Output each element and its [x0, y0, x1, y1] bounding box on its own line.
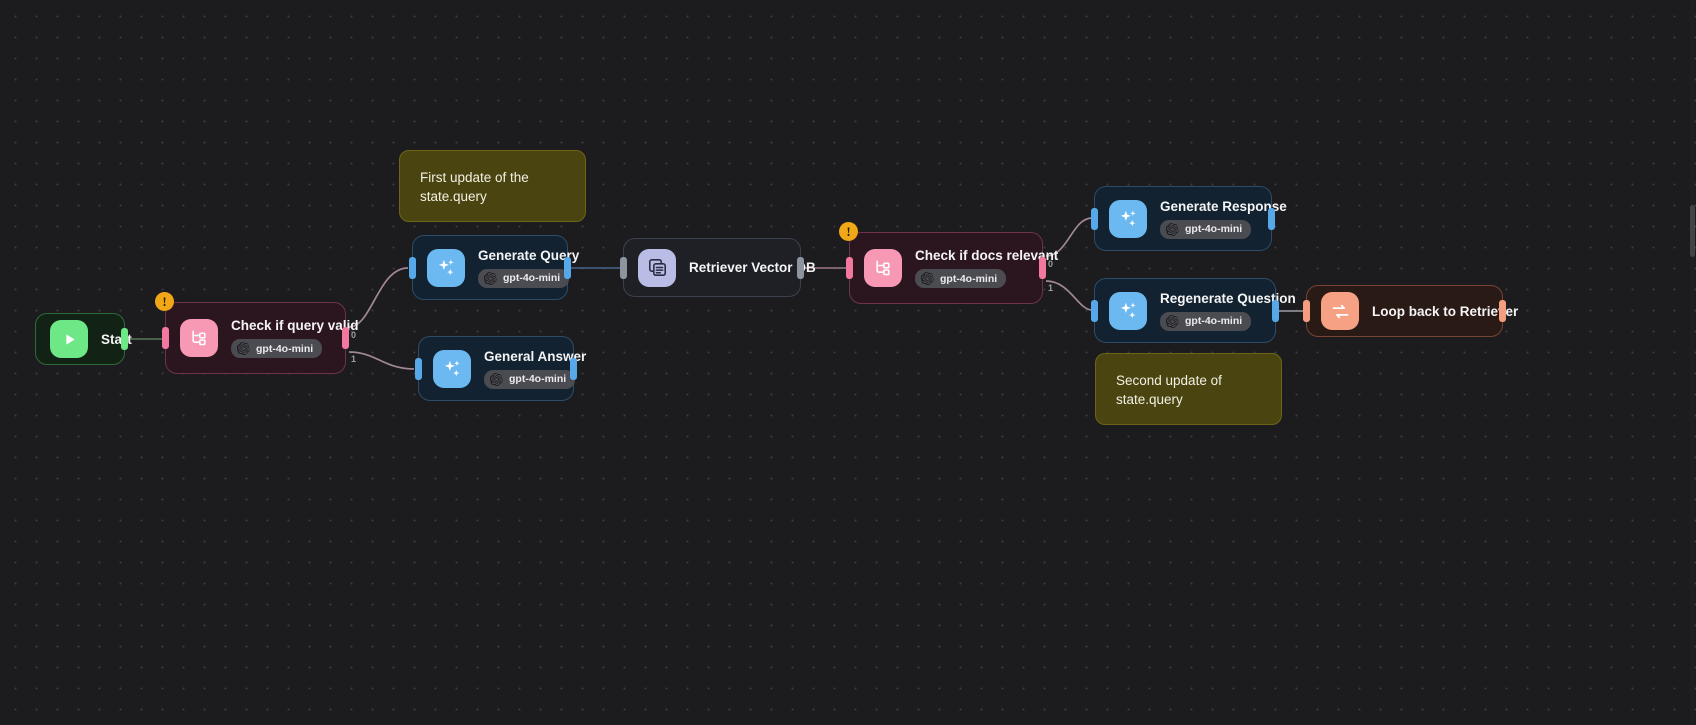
- output-handle[interactable]: [570, 358, 577, 380]
- model-name-label: gpt-4o-mini: [1185, 315, 1242, 327]
- input-handle[interactable]: [162, 327, 169, 349]
- node-title: Generate Query: [478, 248, 549, 263]
- node-title: Loop back to Retriever: [1372, 304, 1484, 319]
- model-badge[interactable]: gpt-4o-mini: [484, 370, 575, 389]
- output-handle[interactable]: [121, 328, 128, 350]
- play-icon: [50, 320, 88, 358]
- node-body: Check if docs relevantgpt-4o-mini: [915, 248, 1024, 288]
- edge-check-query-valid-to-general-answer[interactable]: [349, 352, 414, 369]
- node-body: Generate Querygpt-4o-mini: [478, 248, 549, 288]
- node-title: Check if query valid: [231, 318, 327, 333]
- model-name-label: gpt-4o-mini: [940, 273, 997, 285]
- sparkles-icon: [1109, 292, 1147, 330]
- edge-label-docs-relevant-1: 1: [1048, 283, 1053, 293]
- node-title: Generate Response: [1160, 199, 1253, 214]
- openai-icon: [484, 272, 497, 285]
- openai-icon: [490, 373, 503, 386]
- model-name-label: gpt-4o-mini: [256, 343, 313, 355]
- sticky-note-second-update[interactable]: Second update of state.query: [1095, 353, 1282, 425]
- node-body: Generate Responsegpt-4o-mini: [1160, 199, 1253, 239]
- openai-icon: [237, 342, 250, 355]
- openai-icon: [1166, 315, 1179, 328]
- model-name-label: gpt-4o-mini: [503, 272, 560, 284]
- scrollbar-thumb[interactable]: [1690, 205, 1695, 257]
- model-badge[interactable]: gpt-4o-mini: [1160, 312, 1251, 331]
- documents-icon: [638, 249, 676, 287]
- branch-icon: [180, 319, 218, 357]
- edge-label-query-valid-0: 0: [351, 330, 356, 340]
- check-if-query-valid-node[interactable]: Check if query validgpt-4o-mini: [165, 302, 346, 374]
- output-handle[interactable]: [1499, 300, 1506, 322]
- input-handle[interactable]: [846, 257, 853, 279]
- warning-badge-icon[interactable]: !: [839, 222, 858, 241]
- retriever-vector-db-node[interactable]: Retriever Vector DB: [623, 238, 801, 297]
- model-badge[interactable]: gpt-4o-mini: [1160, 220, 1251, 239]
- input-handle[interactable]: [409, 257, 416, 279]
- openai-icon: [1166, 223, 1179, 236]
- input-handle[interactable]: [1091, 208, 1098, 230]
- input-handle[interactable]: [1303, 300, 1310, 322]
- generate-query-node[interactable]: Generate Querygpt-4o-mini: [412, 235, 568, 300]
- output-handle[interactable]: [564, 257, 571, 279]
- output-handle[interactable]: [1268, 208, 1275, 230]
- model-name-label: gpt-4o-mini: [1185, 223, 1242, 235]
- node-body: Loop back to Retriever: [1372, 304, 1484, 319]
- sticky-note-first-update[interactable]: First update of the state.query: [399, 150, 586, 222]
- model-badge[interactable]: gpt-4o-mini: [915, 269, 1006, 288]
- input-handle[interactable]: [620, 257, 627, 279]
- generate-response-node[interactable]: Generate Responsegpt-4o-mini: [1094, 186, 1272, 251]
- node-body: General Answergpt-4o-mini: [484, 349, 555, 389]
- output-handle[interactable]: [1272, 300, 1279, 322]
- output-handle[interactable]: [1039, 257, 1046, 279]
- node-body: Check if query validgpt-4o-mini: [231, 318, 327, 358]
- output-handle[interactable]: [342, 327, 349, 349]
- node-body: Start: [101, 332, 106, 347]
- model-badge[interactable]: gpt-4o-mini: [478, 269, 569, 288]
- check-if-docs-relevant-node[interactable]: Check if docs relevantgpt-4o-mini: [849, 232, 1043, 304]
- edge-label-query-valid-1: 1: [351, 354, 356, 364]
- sparkles-icon: [427, 249, 465, 287]
- input-handle[interactable]: [1091, 300, 1098, 322]
- start-node[interactable]: Start: [35, 313, 125, 365]
- regenerate-question-node[interactable]: Regenerate Questiongpt-4o-mini: [1094, 278, 1276, 343]
- warning-badge-icon[interactable]: !: [155, 292, 174, 311]
- general-answer-node[interactable]: General Answergpt-4o-mini: [418, 336, 574, 401]
- branch-icon: [864, 249, 902, 287]
- loop-back-to-retriever-node[interactable]: Loop back to Retriever: [1306, 285, 1503, 337]
- node-title: General Answer: [484, 349, 555, 364]
- node-body: Retriever Vector DB: [689, 260, 782, 275]
- node-body: Regenerate Questiongpt-4o-mini: [1160, 291, 1257, 331]
- node-title: Retriever Vector DB: [689, 260, 782, 275]
- scrollbar-track[interactable]: [1690, 0, 1695, 725]
- node-title: Start: [101, 332, 106, 347]
- node-title: Check if docs relevant: [915, 248, 1024, 263]
- openai-icon: [921, 272, 934, 285]
- sparkles-icon: [1109, 200, 1147, 238]
- sparkles-icon: [433, 350, 471, 388]
- output-handle[interactable]: [797, 257, 804, 279]
- node-title: Regenerate Question: [1160, 291, 1257, 306]
- loop-icon: [1321, 292, 1359, 330]
- model-badge[interactable]: gpt-4o-mini: [231, 339, 322, 358]
- edge-label-docs-relevant-0: 0: [1048, 259, 1053, 269]
- model-name-label: gpt-4o-mini: [509, 373, 566, 385]
- input-handle[interactable]: [415, 358, 422, 380]
- workflow-canvas[interactable]: First update of the state.querySecond up…: [0, 0, 1696, 725]
